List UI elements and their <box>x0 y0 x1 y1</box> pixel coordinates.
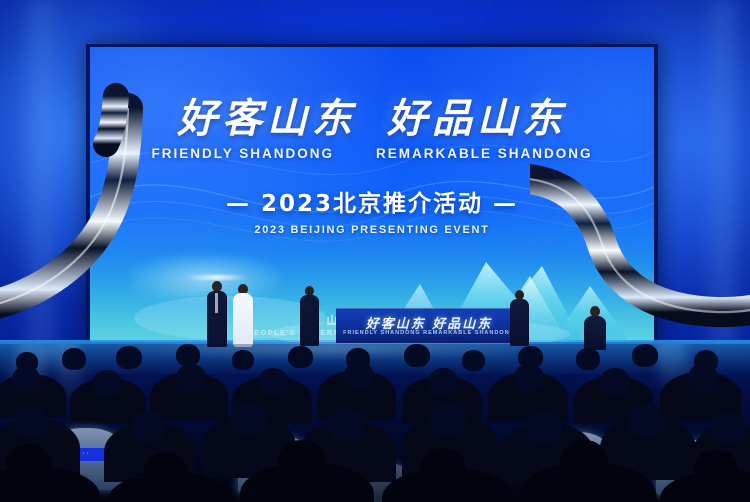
headline-en-row: FRIENDLY SHANDONG REMARKABLE SHANDONG <box>90 146 654 161</box>
podium-banner-en: FRIENDLY SHANDONG REMARKABLE SHANDONG <box>336 330 522 336</box>
attendee-head <box>694 450 738 492</box>
attendee-head <box>420 448 466 492</box>
screen-title-block: 好客山东 好品山东 FRIENDLY SHANDONG REMARKABLE S… <box>90 99 654 236</box>
attendee-head <box>576 348 600 370</box>
attendee-head <box>514 364 544 392</box>
attendee-head <box>132 410 166 442</box>
wall-streak <box>18 0 64 360</box>
attendee-head <box>176 364 206 392</box>
podium-banner: 好客山东 好品山东 FRIENDLY SHANDONG REMARKABLE S… <box>336 308 522 343</box>
wall-streak <box>700 0 746 360</box>
attendee-head <box>176 344 200 366</box>
attendee-head <box>232 350 254 370</box>
attendee-head <box>230 402 266 436</box>
attendee-head <box>92 370 122 398</box>
attendee-head <box>14 406 48 438</box>
led-screen: 好客山东 好品山东 FRIENDLY SHANDONG REMARKABLE S… <box>90 47 654 342</box>
stage-attendant <box>300 286 320 346</box>
headline-right-cn: 好品山东 <box>387 99 567 139</box>
attendee-head <box>404 344 430 367</box>
host-male <box>206 281 228 347</box>
led-screen-frame: 好客山东 好品山东 FRIENDLY SHANDONG REMARKABLE S… <box>86 44 658 344</box>
attendee-head <box>144 452 188 494</box>
audience-area: • • <box>0 344 750 502</box>
attendee-head <box>462 350 485 371</box>
headline-left-cn: 好客山东 <box>177 99 357 139</box>
headline-right-en: REMARKABLE SHANDONG <box>376 146 593 161</box>
attendee-head <box>116 346 142 369</box>
event-line-en: 2023 BEIJING PRESENTING EVENT <box>90 224 654 236</box>
attendee-head <box>632 344 658 367</box>
attendee-head <box>6 444 52 488</box>
attendee-head <box>712 412 746 444</box>
attendee-head <box>278 440 326 486</box>
host-female <box>232 284 254 347</box>
stage-photo: 好客山东 好品山东 FRIENDLY SHANDONG REMARKABLE S… <box>0 0 750 502</box>
attendee-head <box>560 440 608 486</box>
attendee-head <box>344 362 374 390</box>
attendee-head <box>258 368 288 396</box>
attendee-head <box>628 404 664 438</box>
attendee-head <box>430 402 466 436</box>
attendee-head <box>688 364 718 392</box>
headline-cn-row: 好客山东 好品山东 <box>90 99 654 139</box>
headline-left-en: FRIENDLY SHANDONG <box>151 146 334 161</box>
attendee-head <box>600 368 630 396</box>
attendee-head <box>328 408 364 442</box>
stage-staff <box>510 290 530 346</box>
event-line-cn: — 2023北京推介活动 — <box>90 184 654 218</box>
attendee-head <box>428 368 458 396</box>
attendee-head <box>12 366 40 392</box>
attendee-head <box>288 346 313 368</box>
attendee-head <box>526 410 562 444</box>
attendee-head <box>62 348 86 370</box>
